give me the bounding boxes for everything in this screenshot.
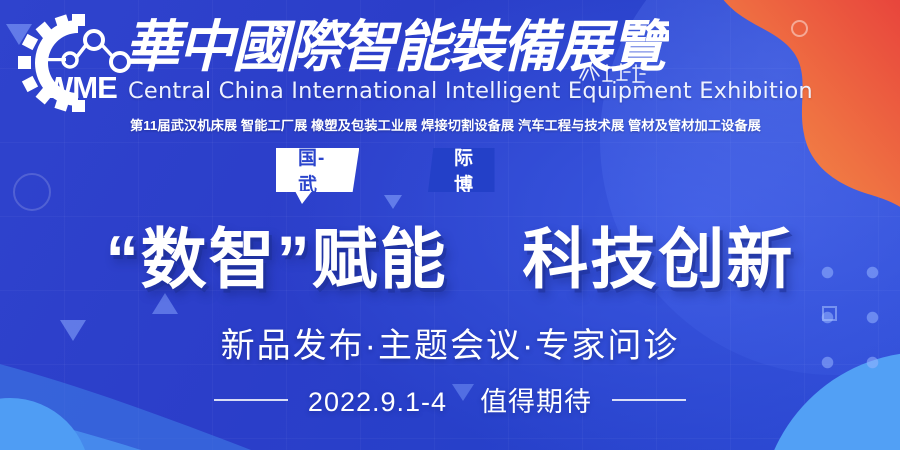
- exhibition-banner: WME 華中國際智能裝備展覽會 Central China Internatio…: [0, 0, 900, 450]
- date-line: 2022.9.1-4 值得期待: [0, 380, 900, 419]
- exhibition-subtitle-cn: 第11届武汉机床展 智能工厂展 橡塑及包装工业展 焊接切割设备展 汽车工程与技术…: [130, 115, 690, 134]
- wme-gear-logo-icon: WME: [16, 14, 136, 112]
- badge-venue: 武汉国际博览中心: [428, 148, 495, 192]
- date-range: 2022.9.1-4: [308, 387, 447, 417]
- badge-tail-pointer: [295, 191, 312, 204]
- brand-header: WME 華中國際智能裝備展覽會 Central China Internatio…: [16, 12, 676, 112]
- date-tagline: 值得期待: [480, 387, 592, 417]
- exhibition-title-en: Central China International Intelligent …: [128, 78, 688, 104]
- ring-small-icon: [791, 20, 808, 37]
- svg-text:WME: WME: [44, 70, 117, 105]
- subline: 新品发布·主题会议·专家问诊: [0, 318, 900, 367]
- badge-location: 中国-武汉: [276, 148, 359, 192]
- date-text: 2022.9.1-4 值得期待: [308, 380, 592, 419]
- headline: “数智”赋能 科技创新: [0, 206, 900, 302]
- dash-left: [214, 399, 288, 401]
- headline-part-2: 科技创新: [522, 222, 794, 296]
- headline-part-1: “数智”赋能: [106, 222, 448, 296]
- dash-right: [612, 399, 686, 401]
